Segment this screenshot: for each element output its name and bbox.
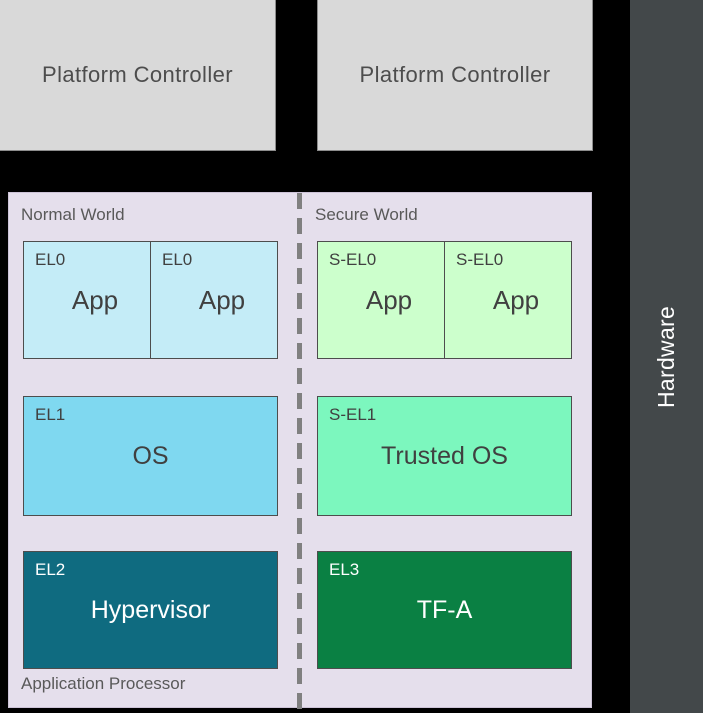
el2-hypervisor-title: Hypervisor <box>24 552 277 668</box>
sel0-app-title-1: App <box>318 242 444 358</box>
diagram-canvas: Platform Controller Platform Controller … <box>0 0 703 713</box>
sel1-trusted-os-box: S-EL1 Trusted OS <box>317 396 572 516</box>
el3-tfa-box: EL3 TF-A <box>317 551 572 669</box>
hardware-label: Hardware <box>630 0 703 713</box>
platform-controller-label-right: Platform Controller <box>360 62 551 88</box>
hardware-bar: Hardware <box>630 0 703 713</box>
el2-hypervisor-box: EL2 Hypervisor <box>23 551 278 669</box>
platform-controller-label-left: Platform Controller <box>42 62 233 88</box>
el1-os-title: OS <box>24 397 277 515</box>
platform-controller-box-left: Platform Controller <box>0 0 276 151</box>
world-divider-dashed-line <box>297 193 302 709</box>
el0-app-box-1: EL0 App <box>23 241 151 359</box>
el0-app-box-2: EL0 App <box>150 241 278 359</box>
el0-app-title-2: App <box>151 242 277 358</box>
sel0-app-box-1: S-EL0 App <box>317 241 445 359</box>
sel0-app-box-2: S-EL0 App <box>444 241 572 359</box>
el3-tfa-title: TF-A <box>318 552 571 668</box>
secure-world-label: Secure World <box>315 205 418 225</box>
el0-app-title-1: App <box>24 242 150 358</box>
platform-controller-box-right: Platform Controller <box>317 0 593 151</box>
el1-os-box: EL1 OS <box>23 396 278 516</box>
normal-world-label: Normal World <box>21 205 125 225</box>
sel1-trusted-os-title: Trusted OS <box>318 397 571 515</box>
sel0-app-title-2: App <box>445 242 571 358</box>
application-processor-caption: Application Processor <box>21 674 185 694</box>
application-processor-panel: Normal World Secure World EL0 App EL0 Ap… <box>8 192 592 708</box>
